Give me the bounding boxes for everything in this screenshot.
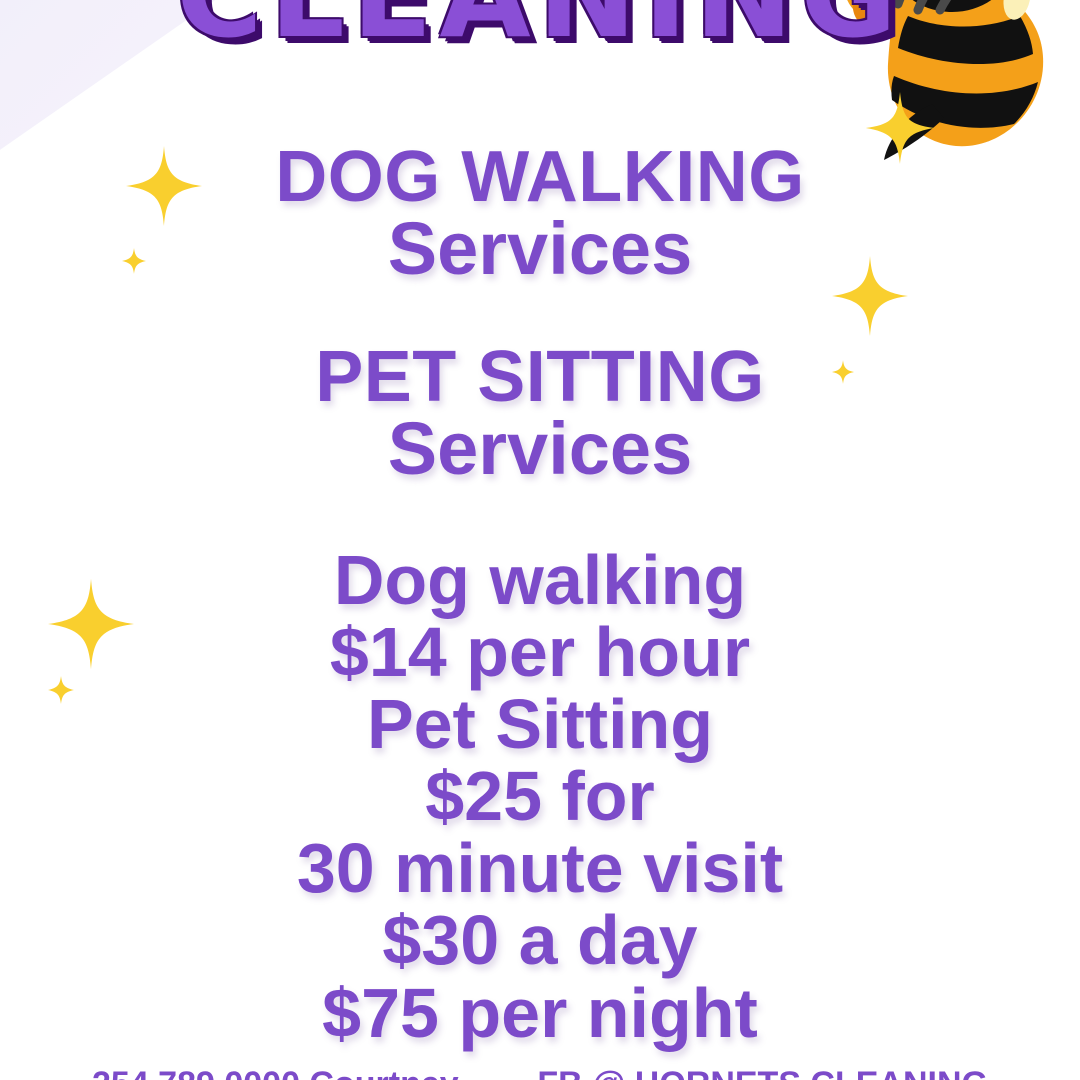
headline-text: CLEANING: [176, 0, 904, 54]
pricing-line: Dog walking: [0, 544, 1080, 616]
pricing-line: $75 per night: [0, 977, 1080, 1049]
service-block-pet-sitting: PET SITTING Services: [0, 342, 1080, 485]
pet-services-flyer: CLEANING DOG WALKING Services PET SITTIN…: [0, 0, 1080, 1080]
contact-phone-name: 254 789 0000 Courtney: [92, 1065, 459, 1080]
pricing-line: 30 minute visit: [0, 832, 1080, 904]
contact-social: FB @ HORNETS CLEANING: [537, 1065, 988, 1080]
pricing-line: Pet Sitting: [0, 688, 1080, 760]
service-subtitle: Services: [0, 413, 1080, 486]
service-title: DOG WALKING: [0, 142, 1080, 213]
headline-cleaning: CLEANING: [0, 0, 1080, 54]
pricing-line: $25 for: [0, 760, 1080, 832]
pricing-line: $30 a day: [0, 904, 1080, 976]
service-subtitle: Services: [0, 213, 1080, 286]
service-block-dog-walking: DOG WALKING Services: [0, 142, 1080, 285]
footer-contact: 254 789 0000 Courtney FB @ HORNETS CLEAN…: [0, 1065, 1080, 1080]
service-title: PET SITTING: [0, 342, 1080, 413]
pricing-line: $14 per hour: [0, 616, 1080, 688]
pricing-list: Dog walking $14 per hour Pet Sitting $25…: [0, 544, 1080, 1049]
